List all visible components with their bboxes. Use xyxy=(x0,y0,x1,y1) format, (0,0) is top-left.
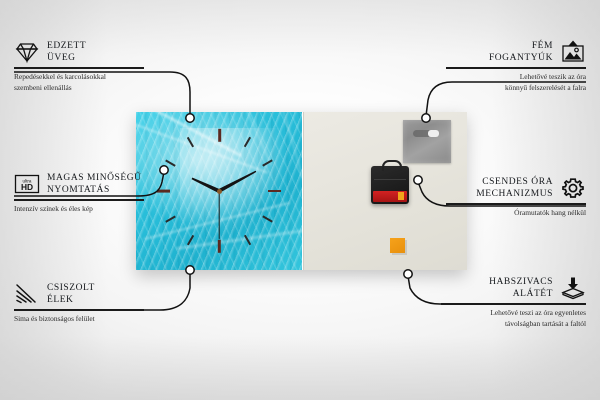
clock-tick xyxy=(263,159,274,166)
leader-dot-foam xyxy=(404,270,412,278)
callout-rule xyxy=(14,67,144,69)
diamond-icon xyxy=(14,40,40,64)
picture-hanger-icon xyxy=(560,40,586,64)
infographic-canvas: EDZETT ÜVEG Repedésekkel és karcolásokka… xyxy=(0,0,600,400)
minute-hand xyxy=(218,170,257,193)
quartz-clock-movement xyxy=(371,166,409,204)
hand-center-cap xyxy=(217,189,222,194)
clock-tick xyxy=(263,216,274,223)
callout-rule xyxy=(14,309,144,311)
callout-metal-handles: FÉM FOGANTYÚK Lehetővé teszik az óra kön… xyxy=(426,40,586,93)
callout-rule xyxy=(441,303,586,305)
callout-title: CSENDES ÓRA MECHANIZMUS xyxy=(476,176,553,200)
callout-rule xyxy=(446,203,586,205)
callout-rule xyxy=(446,67,586,69)
clock-tick xyxy=(187,235,194,246)
callout-rule xyxy=(14,199,144,201)
second-hand xyxy=(218,191,219,239)
callout-body: Óramutatók hang nélkül xyxy=(426,208,586,219)
svg-text:HD: HD xyxy=(21,182,33,192)
gear-icon xyxy=(560,176,586,200)
callout-silent-mechanism: CSENDES ÓRA MECHANIZMUS Óramutatók hang … xyxy=(426,176,586,219)
callout-title: FÉM FOGANTYÚK xyxy=(489,40,553,64)
callout-header: FÉM FOGANTYÚK xyxy=(426,40,586,64)
callout-polished-edges: CSISZOLT ÉLEK Sima és biztonságos felüle… xyxy=(14,282,164,325)
movement-bail xyxy=(382,160,402,171)
callout-title: HABSZIVACS ALÁTÉT xyxy=(489,276,553,300)
hanger-slot xyxy=(413,130,439,137)
callout-header: CSENDES ÓRA MECHANIZMUS xyxy=(426,176,586,200)
callout-foam-spacer: HABSZIVACS ALÁTÉT Lehetővé teszi az óra … xyxy=(421,276,586,329)
callout-high-quality-print: ultra HD MAGAS MINŐSÉGŰ NYOMTATÁS Intenz… xyxy=(14,172,164,215)
callout-title: EDZETT ÜVEG xyxy=(47,40,86,64)
callout-title: MAGAS MINŐSÉGŰ NYOMTATÁS xyxy=(47,172,142,196)
clock-tick xyxy=(244,235,251,246)
callout-title: CSISZOLT ÉLEK xyxy=(47,282,95,306)
clock-tick xyxy=(165,159,176,166)
callout-header: ultra HD MAGAS MINŐSÉGŰ NYOMTATÁS xyxy=(14,172,164,196)
callout-body: Intenzív színek és éles kép xyxy=(14,204,164,215)
callout-body: Lehetővé teszik az óra könnyű felszerelé… xyxy=(426,72,586,93)
callout-header: EDZETT ÜVEG xyxy=(14,40,164,64)
foam-spacer-pad xyxy=(390,238,405,253)
callout-header: CSISZOLT ÉLEK xyxy=(14,282,164,306)
callout-body: Repedésekkel és karcolásokkal szembeni e… xyxy=(14,72,164,93)
product-image xyxy=(136,112,466,270)
callout-body: Sima és biztonságos felület xyxy=(14,314,164,325)
foam-pad-icon xyxy=(560,276,586,300)
hour-hand xyxy=(191,177,220,193)
battery-label xyxy=(373,191,407,202)
clock-tick xyxy=(268,190,281,193)
movement-seam xyxy=(374,179,406,180)
callout-tempered-glass: EDZETT ÜVEG Repedésekkel és karcolásokka… xyxy=(14,40,164,93)
polished-edge-icon xyxy=(14,282,40,306)
callout-body: Lehetővé teszi az óra egyenletes távolsá… xyxy=(421,308,586,329)
metal-hanger-plate xyxy=(403,120,451,163)
clock-tick xyxy=(218,240,221,253)
clock-tick xyxy=(244,137,251,148)
ultra-hd-icon: ultra HD xyxy=(14,172,40,196)
clock-tick xyxy=(218,129,221,142)
callout-header: HABSZIVACS ALÁTÉT xyxy=(421,276,586,300)
clock-tick xyxy=(187,137,194,148)
clock-tick xyxy=(165,216,176,223)
